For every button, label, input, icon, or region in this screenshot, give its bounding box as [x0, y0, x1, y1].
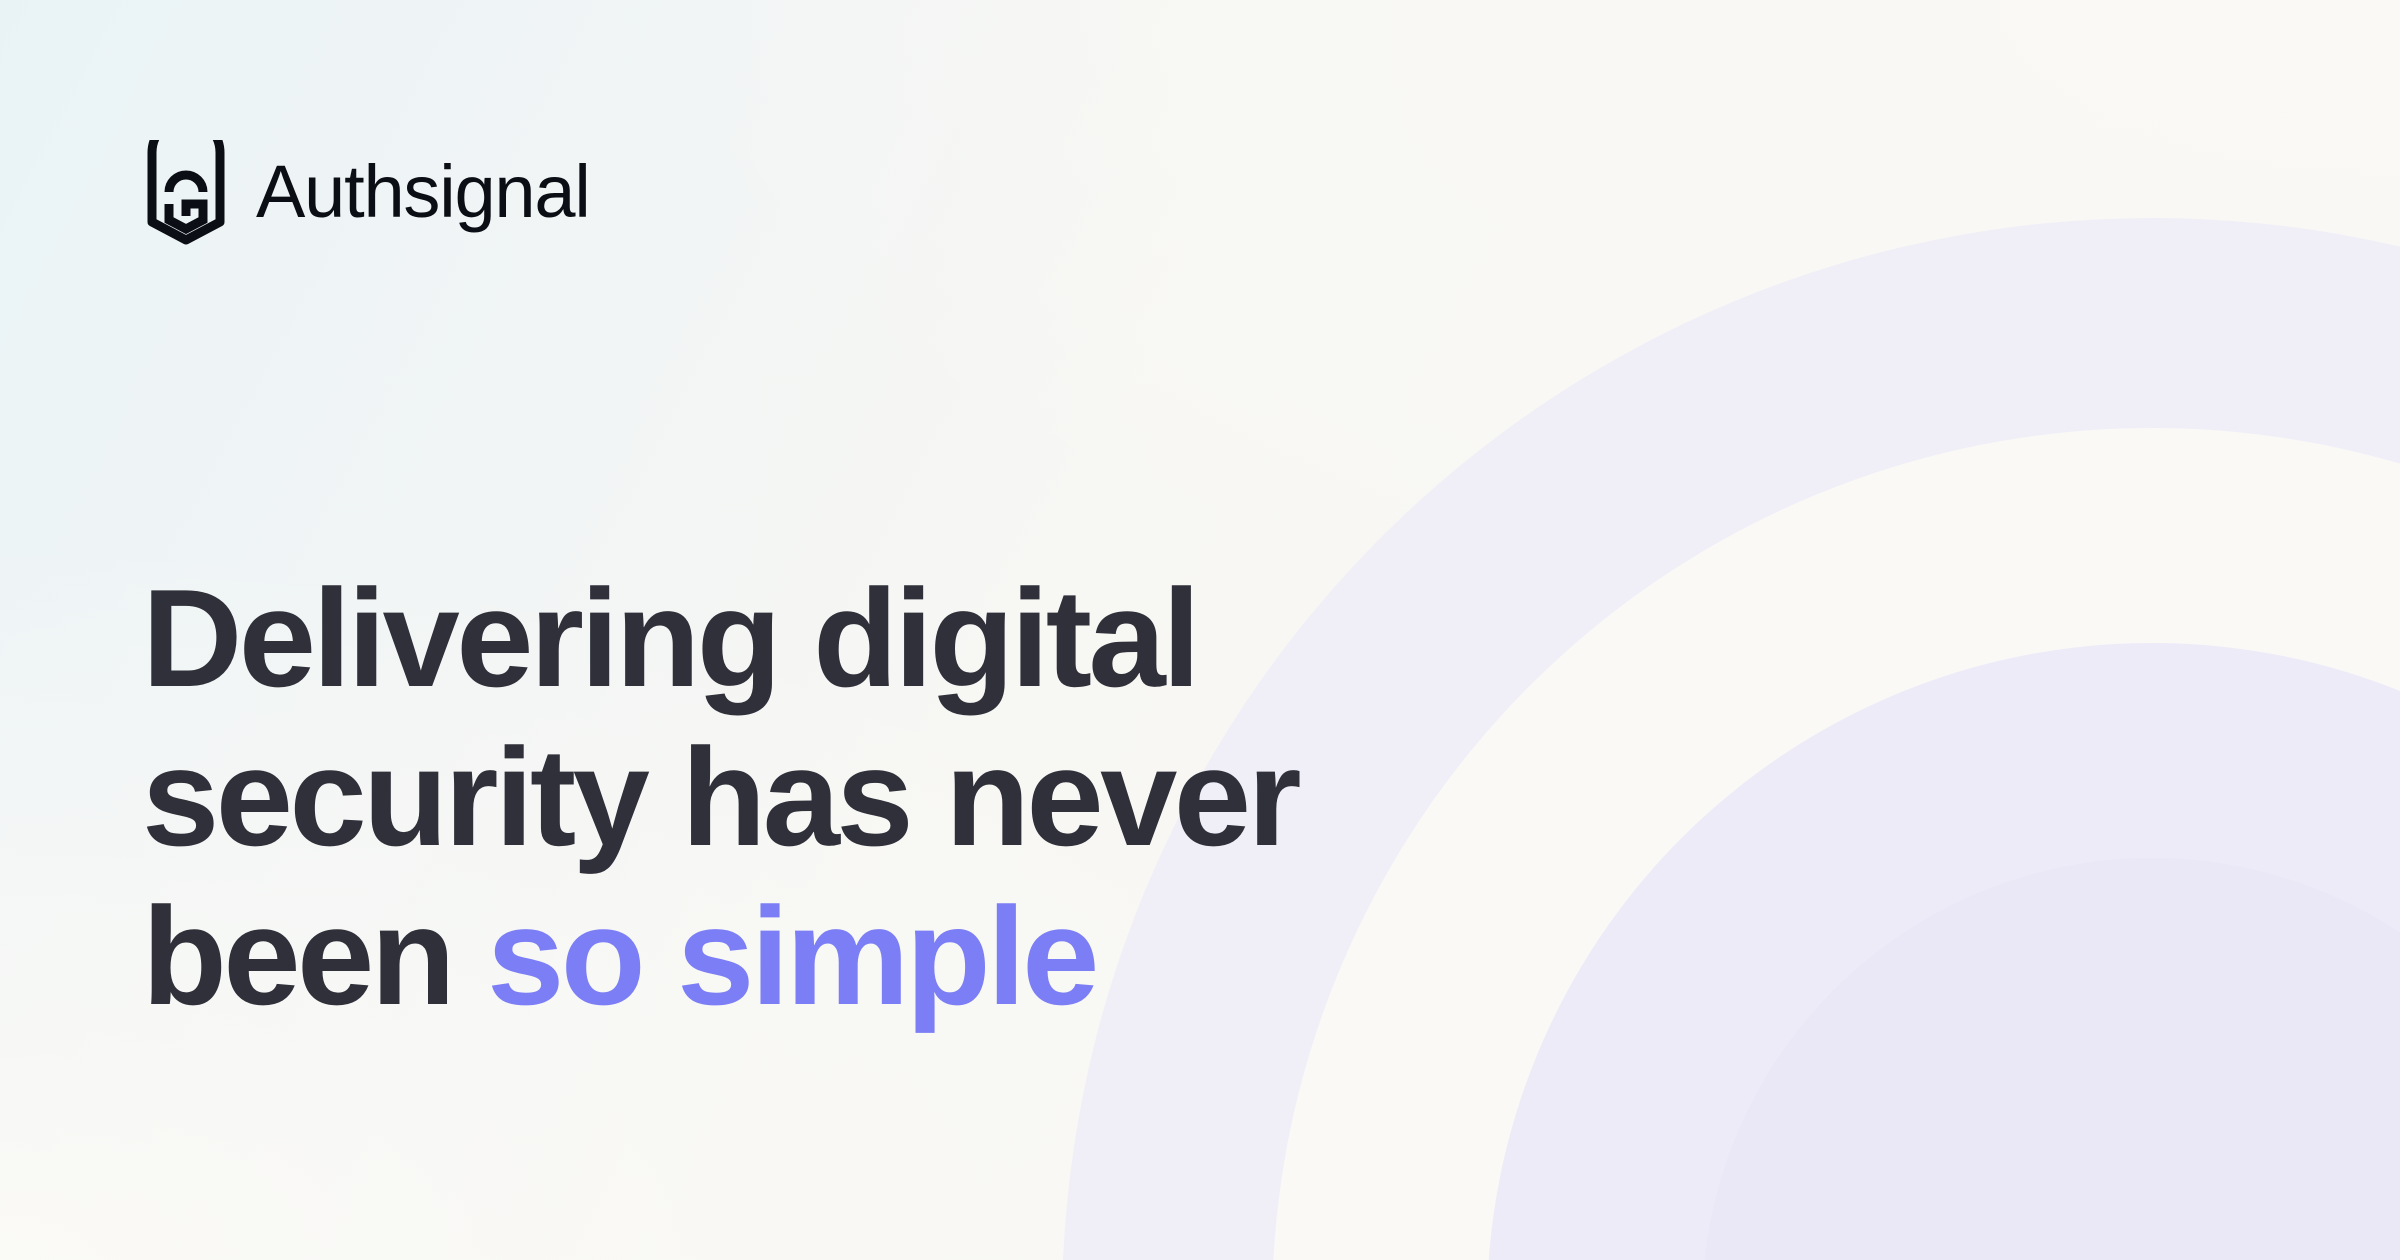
- brand-logo-lockup[interactable]: Authsignal: [144, 140, 590, 250]
- page-title: Delivering digital security has never be…: [142, 559, 1298, 1036]
- brand-wordmark: Authsignal: [256, 155, 590, 235]
- headline-line-3: been so simple: [142, 877, 1298, 1036]
- hero-banner: Authsignal Delivering digital security h…: [0, 0, 2400, 1260]
- headline-accent-text: so simple: [487, 879, 1096, 1034]
- headline-line-2: security has never: [142, 718, 1298, 877]
- headline-line-3-plain: been: [142, 879, 487, 1034]
- headline-line-1: Delivering digital: [142, 559, 1298, 718]
- hero-content: Authsignal Delivering digital security h…: [0, 0, 2400, 1260]
- shield-lock-icon: [144, 140, 228, 250]
